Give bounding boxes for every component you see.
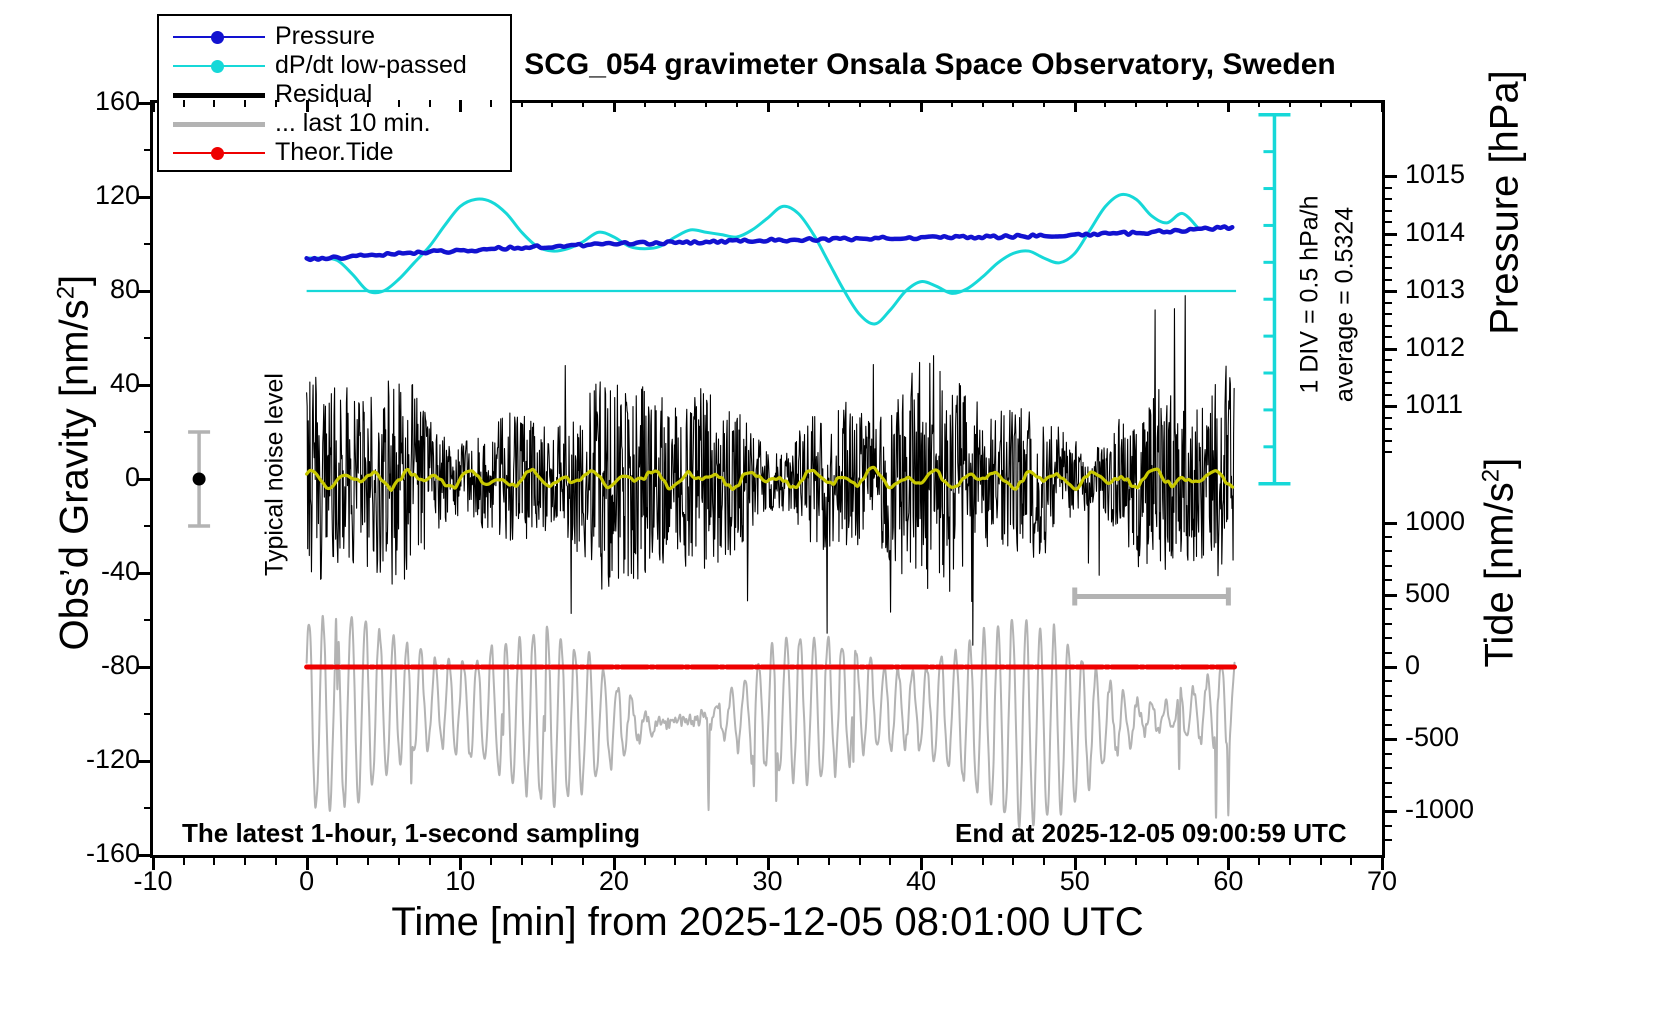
x-tick-top-minor xyxy=(1135,100,1137,107)
y-tick-right-tide xyxy=(1385,666,1397,669)
y-tick-right-tide xyxy=(1385,810,1397,813)
y-tick-right-tide-minor xyxy=(1385,796,1392,798)
x-tick-top-minor xyxy=(736,100,738,107)
y-tick-label-pressure: 1011 xyxy=(1405,391,1515,418)
legend-label-theor-tide: Theor.Tide xyxy=(275,140,394,165)
y-tick-label-left: 40 xyxy=(20,370,140,397)
x-tick-top-minor xyxy=(582,100,584,107)
plot-canvas xyxy=(153,103,1382,855)
legend-swatch-residual xyxy=(173,87,265,103)
y-axis-left-label: Obs’d Gravity [nm/s2] xyxy=(52,113,97,813)
x-tick-bottom-minor xyxy=(1012,858,1014,865)
y-tick-right-pressure-minor xyxy=(1385,417,1392,419)
x-tick-top xyxy=(1381,100,1384,112)
x-tick-bottom-minor xyxy=(521,858,523,865)
sampling-note: The latest 1-hour, 1-second sampling xyxy=(182,818,640,849)
x-tick-bottom-minor xyxy=(1289,858,1291,865)
y-tick-right-tide-minor xyxy=(1385,825,1392,827)
series-pressure xyxy=(307,226,1233,259)
x-tick-bottom-minor xyxy=(982,858,984,865)
y-tick-left-minor xyxy=(144,807,150,809)
y-tick-left-minor xyxy=(144,431,150,433)
y-tick-left-minor xyxy=(144,619,150,621)
x-tick-top-minor xyxy=(1320,100,1322,107)
y-tick-label-left: 80 xyxy=(20,276,140,303)
y-tick-right-tide-minor xyxy=(1385,839,1392,841)
y-tick-right-tide-minor xyxy=(1385,709,1392,711)
legend-label-dpdt: dP/dt low-passed xyxy=(275,53,467,78)
y-tick-left-minor xyxy=(144,243,150,245)
y-tick-right-tide-minor xyxy=(1385,608,1392,610)
legend-swatch-last10 xyxy=(173,116,265,132)
y-tick-label-left: -160 xyxy=(20,840,140,867)
x-tick-bottom-minor xyxy=(183,858,185,865)
legend-item-dpdt[interactable]: dP/dt low-passed xyxy=(159,51,510,80)
legend: Pressure dP/dt low-passed Residual ... l… xyxy=(157,14,512,172)
x-tick-top-minor xyxy=(1350,100,1352,107)
x-tick-label: 60 xyxy=(1168,866,1288,897)
x-tick-bottom-minor xyxy=(213,858,215,865)
x-tick-bottom-minor xyxy=(490,858,492,865)
end-note: End at 2025-12-05 09:00:59 UTC xyxy=(955,818,1347,849)
x-tick-bottom-minor xyxy=(736,858,738,865)
x-tick-bottom-minor xyxy=(1258,858,1260,865)
x-tick-top-minor xyxy=(429,100,431,107)
series-dpdt-low-passed xyxy=(307,194,1198,324)
y-tick-right-pressure-minor xyxy=(1385,256,1392,258)
y-tick-right-tide-minor xyxy=(1385,652,1392,654)
y-tick-right-tide-minor xyxy=(1385,782,1392,784)
x-tick-top xyxy=(152,100,155,112)
x-tick-bottom-minor xyxy=(336,858,338,865)
x-tick-bottom-minor xyxy=(1104,858,1106,865)
x-axis-label: Time [min] from 2025-12-05 08:01:00 UTC xyxy=(150,900,1385,945)
x-tick-label: 0 xyxy=(247,866,367,897)
y-tick-right-pressure xyxy=(1385,348,1397,351)
x-tick-bottom-minor xyxy=(797,858,799,865)
x-tick-label: 30 xyxy=(708,866,828,897)
y-tick-right-pressure-minor xyxy=(1385,244,1392,246)
y-tick-right-pressure-minor xyxy=(1385,336,1392,338)
x-tick-label: 10 xyxy=(400,866,520,897)
y-tick-right-tide-minor xyxy=(1385,767,1392,769)
y-tick-right-pressure xyxy=(1385,233,1397,236)
x-tick-top-minor xyxy=(705,100,707,107)
legend-swatch-pressure xyxy=(173,29,265,45)
x-tick-top-minor xyxy=(889,100,891,107)
x-tick-top-minor xyxy=(1258,100,1260,107)
y-tick-left-minor xyxy=(144,149,150,151)
x-tick-bottom-minor xyxy=(429,858,431,865)
y-tick-right-pressure-minor xyxy=(1385,187,1392,189)
x-tick-top-minor xyxy=(336,100,338,107)
y-tick-right-pressure-minor xyxy=(1385,313,1392,315)
y-tick-right-tide-minor xyxy=(1385,680,1392,682)
y-tick-label-tide: 1000 xyxy=(1405,508,1515,535)
series-last-10-min xyxy=(307,616,1235,827)
x-tick-top-minor xyxy=(398,100,400,107)
x-tick-label: -10 xyxy=(93,866,213,897)
legend-label-last10: ... last 10 min. xyxy=(275,111,431,136)
y-tick-right-tide-minor xyxy=(1385,695,1392,697)
y-tick-right-tide-minor xyxy=(1385,565,1392,567)
x-tick-bottom-minor xyxy=(1135,858,1137,865)
x-tick-bottom-minor xyxy=(582,858,584,865)
y-tick-right-pressure-minor xyxy=(1385,198,1392,200)
x-tick-bottom-minor xyxy=(674,858,676,865)
x-tick-bottom-minor xyxy=(828,858,830,865)
x-tick-top-minor xyxy=(367,100,369,107)
legend-item-theor-tide[interactable]: Theor.Tide xyxy=(159,138,510,167)
legend-item-pressure[interactable]: Pressure xyxy=(159,22,510,51)
x-tick-top-minor xyxy=(275,100,277,107)
y-tick-right-pressure xyxy=(1385,290,1397,293)
page-title: SCG_054 gravimeter Onsala Space Observat… xyxy=(430,48,1430,82)
y-tick-label-tide: 500 xyxy=(1405,580,1515,607)
x-tick-bottom-minor xyxy=(1197,858,1199,865)
x-tick-top-minor xyxy=(859,100,861,107)
x-tick-top-minor xyxy=(1166,100,1168,107)
legend-item-residual[interactable]: Residual xyxy=(159,80,510,109)
x-tick-top xyxy=(920,100,923,112)
y-tick-label-left: -40 xyxy=(20,558,140,585)
y-tick-right-pressure-minor xyxy=(1385,394,1392,396)
y-tick-right-tide xyxy=(1385,738,1397,741)
y-tick-right-pressure-minor xyxy=(1385,302,1392,304)
x-tick-top-minor xyxy=(521,100,523,107)
y-tick-right-pressure xyxy=(1385,175,1397,178)
x-tick-label: 40 xyxy=(861,866,981,897)
x-tick-top xyxy=(767,100,770,112)
x-tick-bottom-minor xyxy=(1043,858,1045,865)
x-tick-bottom-minor xyxy=(889,858,891,865)
y-tick-right-pressure-minor xyxy=(1385,371,1392,373)
y-tick-right-pressure-minor xyxy=(1385,279,1392,281)
legend-swatch-dpdt xyxy=(173,58,265,74)
x-tick-label: 50 xyxy=(1015,866,1135,897)
x-tick-bottom-minor xyxy=(244,858,246,865)
x-tick-top-minor xyxy=(951,100,953,107)
y-tick-right-pressure-minor xyxy=(1385,359,1392,361)
x-tick-bottom-minor xyxy=(705,858,707,865)
y-tick-label-left: -120 xyxy=(20,746,140,773)
x-tick-top-minor xyxy=(1104,100,1106,107)
scale-bar-label-div: 1 DIV = 0.5 hPa/h xyxy=(1296,145,1325,445)
data-series-group xyxy=(153,103,1382,855)
y-tick-label-left: -80 xyxy=(20,652,140,679)
x-tick-top-minor xyxy=(644,100,646,107)
x-tick-bottom-minor xyxy=(275,858,277,865)
y-tick-right-tide-minor xyxy=(1385,623,1392,625)
y-tick-label-pressure: 1015 xyxy=(1405,161,1515,188)
x-tick-bottom-minor xyxy=(551,858,553,865)
y-tick-label-left: 0 xyxy=(20,464,140,491)
x-tick-top xyxy=(1227,100,1230,112)
x-tick-bottom-minor xyxy=(367,858,369,865)
y-tick-right-tide xyxy=(1385,522,1397,525)
x-tick-top-minor xyxy=(982,100,984,107)
x-tick-top-minor xyxy=(1197,100,1199,107)
y-tick-label-left: 120 xyxy=(20,182,140,209)
y-tick-label-left: 160 xyxy=(20,88,140,115)
y-tick-left-minor xyxy=(144,525,150,527)
x-tick-top-minor xyxy=(797,100,799,107)
x-tick-top-minor xyxy=(551,100,553,107)
x-tick-top xyxy=(1074,100,1077,112)
x-tick-bottom-minor xyxy=(398,858,400,865)
x-tick-top-minor xyxy=(1012,100,1014,107)
y-tick-label-tide: -1000 xyxy=(1405,796,1515,823)
y-tick-right-tide-minor xyxy=(1385,536,1392,538)
y-tick-right-pressure-minor xyxy=(1385,382,1392,384)
legend-label-residual: Residual xyxy=(275,82,372,107)
x-tick-top xyxy=(306,100,309,112)
x-tick-top xyxy=(459,100,462,112)
y-tick-right-pressure-minor xyxy=(1385,325,1392,327)
y-tick-label-tide: 0 xyxy=(1405,652,1515,679)
y-tick-right-tide-minor xyxy=(1385,550,1392,552)
x-tick-top-minor xyxy=(1289,100,1291,107)
y-tick-right-pressure-minor xyxy=(1385,451,1392,453)
x-tick-bottom-minor xyxy=(859,858,861,865)
x-tick-bottom-minor xyxy=(1350,858,1352,865)
x-tick-top-minor xyxy=(674,100,676,107)
x-tick-top-minor xyxy=(490,100,492,107)
x-tick-top-minor xyxy=(828,100,830,107)
x-tick-top xyxy=(613,100,616,112)
y-tick-right-pressure-minor xyxy=(1385,267,1392,269)
y-tick-right-tide-minor xyxy=(1385,753,1392,755)
y-tick-right-pressure xyxy=(1385,405,1397,408)
series-residual xyxy=(307,296,1235,646)
legend-swatch-theor-tide xyxy=(173,145,265,161)
x-tick-label: 70 xyxy=(1322,866,1442,897)
scale-bar-label-average: average = 0.5324 xyxy=(1331,160,1360,450)
y-tick-right-tide xyxy=(1385,594,1397,597)
noise-level-center-dot xyxy=(193,473,206,486)
x-tick-top-minor xyxy=(183,100,185,107)
x-tick-top-minor xyxy=(244,100,246,107)
y-tick-right-pressure-minor xyxy=(1385,221,1392,223)
x-tick-top-minor xyxy=(1043,100,1045,107)
y-tick-label-tide: -500 xyxy=(1405,724,1515,751)
noise-level-label: Typical noise level xyxy=(261,360,290,590)
y-tick-label-pressure: 1012 xyxy=(1405,334,1515,361)
x-tick-bottom-minor xyxy=(951,858,953,865)
y-tick-right-pressure-minor xyxy=(1385,428,1392,430)
x-tick-bottom-minor xyxy=(1320,858,1322,865)
y-tick-right-tide-minor xyxy=(1385,724,1392,726)
y-tick-right-tide-minor xyxy=(1385,637,1392,639)
legend-item-last10[interactable]: ... last 10 min. xyxy=(159,109,510,138)
y-tick-left-minor xyxy=(144,713,150,715)
x-tick-label: 20 xyxy=(554,866,674,897)
x-tick-top-minor xyxy=(213,100,215,107)
y-tick-right-tide-minor xyxy=(1385,579,1392,581)
x-tick-bottom-minor xyxy=(1166,858,1168,865)
y-tick-label-pressure: 1013 xyxy=(1405,276,1515,303)
y-tick-left-minor xyxy=(144,337,150,339)
y-tick-label-pressure: 1014 xyxy=(1405,219,1515,246)
x-tick-bottom-minor xyxy=(644,858,646,865)
y-tick-right-pressure-minor xyxy=(1385,210,1392,212)
legend-label-pressure: Pressure xyxy=(275,24,375,49)
y-tick-right-pressure-minor xyxy=(1385,440,1392,442)
